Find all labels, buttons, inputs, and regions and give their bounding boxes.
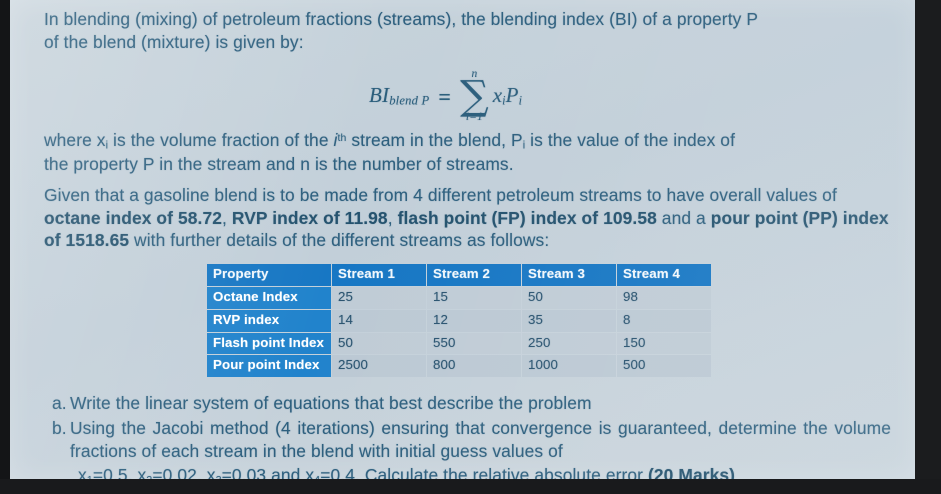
where-seg-5: is the value of the index of	[525, 130, 735, 150]
guess-x1-value: =0.5,	[93, 465, 138, 479]
intro-line-1: In blending (mixing) of petroleum fracti…	[44, 8, 891, 31]
blending-index-formula: BIblend P = n ∑ i=1 xiPi	[44, 61, 891, 123]
given-seg-5: with further details of the different st…	[129, 230, 549, 250]
question-list: a. Write the linear system of equations …	[44, 392, 891, 479]
marks-label: (20 Marks)	[648, 465, 735, 479]
table-header-stream-2: Stream 2	[427, 264, 521, 286]
cell-pour-stream-2: 800	[427, 355, 521, 377]
row-label-rvp-index: RVP index	[207, 310, 331, 332]
question-b-label: b.	[44, 417, 70, 440]
where-seg-2: is the volume fraction of the	[108, 130, 333, 150]
cell-rvp-stream-1: 14	[332, 310, 426, 332]
table-header-row: Property Stream 1 Stream 2 Stream 3 Stre…	[207, 264, 711, 286]
given-rvp-index: RVP index of 11.98	[232, 208, 388, 228]
row-label-pour-point-index: Pour point Index	[207, 355, 331, 377]
cell-pour-stream-1: 2500	[332, 355, 426, 377]
row-label-octane-index: Octane Index	[207, 287, 331, 309]
guess-x3-value: =0.03 and	[222, 465, 306, 479]
cell-octane-stream-2: 15	[427, 287, 521, 309]
sigma-icon: ∑	[460, 80, 489, 113]
cell-flash-stream-2: 550	[427, 333, 521, 355]
where-seg-4: stream in the blend, P	[346, 130, 522, 150]
cell-rvp-stream-2: 12	[427, 310, 521, 332]
photo-bezel-right	[915, 0, 941, 494]
question-a-text: Write the linear system of equations tha…	[70, 392, 891, 415]
streams-table-container: Property Stream 1 Stream 2 Stream 3 Stre…	[44, 263, 891, 378]
cell-flash-stream-4: 150	[617, 333, 711, 355]
where-seg-1: where x	[44, 130, 106, 150]
cell-octane-stream-3: 50	[522, 287, 616, 309]
intro-paragraph: In blending (mixing) of petroleum fracti…	[44, 8, 891, 54]
summation-operator: n ∑ i=1	[460, 69, 489, 123]
summation-lower-limit: i=1	[466, 112, 483, 124]
formula-term-x: x	[493, 83, 502, 107]
streams-table: Property Stream 1 Stream 2 Stream 3 Stre…	[206, 263, 712, 378]
cell-flash-stream-3: 250	[522, 333, 616, 355]
formula-term-p: P	[506, 83, 519, 107]
guess-x4-value: =0.4. Calculate the relative absolute er…	[320, 465, 648, 479]
cell-octane-stream-4: 98	[617, 287, 711, 309]
streams-table-body: Octane Index 25 15 50 98 RVP index 14 12…	[207, 287, 711, 378]
formula-rhs: xiPi	[493, 82, 522, 110]
given-flash-point-index: flash point (FP) index of 109.58	[398, 208, 657, 228]
document-page: In blending (mixing) of petroleum fracti…	[10, 0, 915, 479]
given-octane-index: octane index of 58.72	[44, 208, 222, 228]
cell-pour-stream-3: 1000	[522, 355, 616, 377]
photo-bezel-left	[0, 0, 10, 494]
where-paragraph: where xi is the volume fraction of the i…	[44, 129, 891, 176]
formula-lhs-subscript: blend P	[389, 94, 429, 108]
given-seg-1: Given that a gasoline blend is to be mad…	[44, 185, 837, 205]
guess-x3: x	[207, 465, 216, 479]
formula-term-p-subscript: i	[519, 94, 522, 108]
guess-x2-value: =0.02,	[152, 465, 206, 479]
question-b-text: Using the Jacobi method (4 iterations) e…	[70, 417, 891, 463]
table-header-stream-1: Stream 1	[332, 264, 426, 286]
formula-lhs-symbol: BI	[369, 83, 389, 107]
cell-rvp-stream-3: 35	[522, 310, 616, 332]
initial-guess-line: x1=0.5, x2=0.02, x3=0.03 and x4=0.4. Cal…	[44, 464, 891, 479]
guess-x1: x	[78, 465, 87, 479]
screenshot-root: In blending (mixing) of petroleum fracti…	[0, 0, 941, 494]
question-a: a. Write the linear system of equations …	[44, 392, 891, 415]
row-label-flash-point-index: Flash point Index	[207, 333, 331, 355]
question-b: b. Using the Jacobi method (4 iterations…	[44, 417, 891, 463]
table-row: RVP index 14 12 35 8	[207, 310, 711, 332]
table-header-stream-3: Stream 3	[522, 264, 616, 286]
cell-octane-stream-1: 25	[332, 287, 426, 309]
given-seg-4: and a	[657, 208, 711, 228]
guess-x4: x	[305, 465, 314, 479]
guess-x2: x	[138, 465, 147, 479]
streams-table-head: Property Stream 1 Stream 2 Stream 3 Stre…	[207, 264, 711, 286]
table-row: Pour point Index 2500 800 1000 500	[207, 355, 711, 377]
cell-rvp-stream-4: 8	[617, 310, 711, 332]
cell-flash-stream-1: 50	[332, 333, 426, 355]
cell-pour-stream-4: 500	[617, 355, 711, 377]
question-a-label: a.	[44, 392, 70, 415]
given-paragraph: Given that a gasoline blend is to be mad…	[44, 184, 891, 252]
table-row: Octane Index 25 15 50 98	[207, 287, 711, 309]
given-seg-3: ,	[388, 208, 398, 228]
formula-lhs: BIblend P	[369, 82, 429, 110]
table-header-property: Property	[207, 264, 331, 286]
formula-expression: BIblend P = n ∑ i=1 xiPi	[369, 69, 522, 123]
given-seg-2: ,	[222, 208, 232, 228]
table-row: Flash point Index 50 550 250 150	[207, 333, 711, 355]
photo-bezel-bottom	[0, 479, 941, 494]
table-header-stream-4: Stream 4	[617, 264, 711, 286]
intro-line-2: of the blend (mixture) is given by:	[44, 31, 891, 54]
where-line-2: the property P in the stream and n is th…	[44, 153, 891, 176]
formula-equals: =	[438, 82, 451, 111]
where-line-1: where xi is the volume fraction of the i…	[44, 129, 891, 153]
